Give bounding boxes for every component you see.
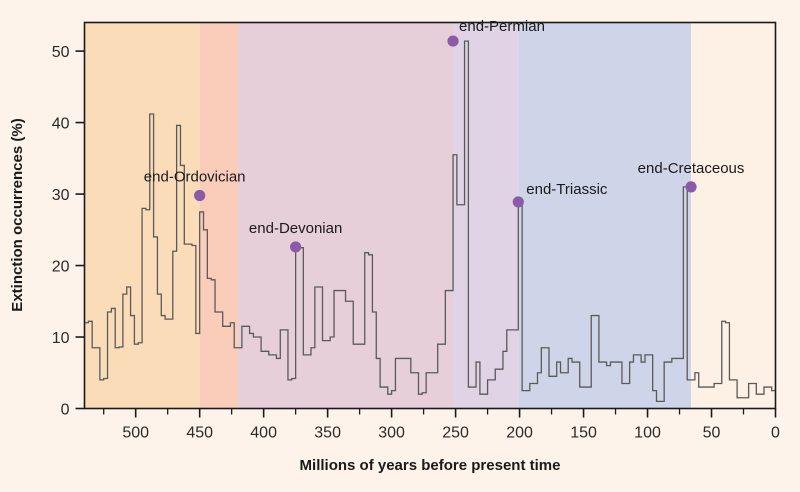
- x-tick-label: 400: [250, 425, 277, 442]
- x-tick-label: 0: [771, 425, 780, 442]
- y-tick-label: 40: [52, 116, 70, 133]
- extinction-marker-dot: [685, 181, 696, 192]
- y-axis-title: Extinction occurrences (%): [9, 118, 26, 311]
- extinction-marker-dot: [194, 190, 205, 201]
- x-tick-label: 250: [442, 425, 469, 442]
- x-tick-label: 500: [122, 425, 149, 442]
- period-band: [518, 23, 691, 409]
- extinction-event-label: end-Cretaceous: [638, 160, 745, 177]
- x-tick-label: 200: [506, 425, 533, 442]
- extinction-event-label: end-Permian: [459, 18, 545, 35]
- period-bands-group: [85, 23, 776, 409]
- x-tick-label: 50: [703, 425, 721, 442]
- chart-canvas: 500450400350300250200150100500 010203040…: [0, 0, 800, 492]
- y-tick-label: 20: [52, 259, 70, 276]
- extinction-marker-dot: [513, 196, 524, 207]
- x-tick-label: 300: [378, 425, 405, 442]
- x-tick-label: 100: [634, 425, 661, 442]
- extinction-marker-dot: [447, 35, 458, 46]
- period-band: [453, 23, 518, 409]
- y-tick-label: 30: [52, 187, 70, 204]
- y-tick-label: 0: [61, 402, 70, 419]
- x-axis-title: Millions of years before present time: [300, 457, 561, 474]
- period-band: [691, 23, 775, 409]
- x-tick-label: 150: [570, 425, 597, 442]
- x-tick-label: 350: [314, 425, 341, 442]
- extinction-chart-figure: 500450400350300250200150100500 010203040…: [0, 0, 800, 492]
- y-tick-label: 10: [52, 330, 70, 347]
- extinction-event-label: end-Triassic: [526, 181, 608, 198]
- extinction-event-label: end-Devonian: [249, 220, 342, 237]
- x-tick-label: 450: [186, 425, 213, 442]
- y-tick-label: 50: [52, 44, 70, 61]
- period-band: [200, 23, 238, 409]
- extinction-marker-dot: [290, 241, 301, 252]
- extinction-event-label: end-Ordovician: [144, 168, 246, 185]
- period-band: [238, 23, 453, 409]
